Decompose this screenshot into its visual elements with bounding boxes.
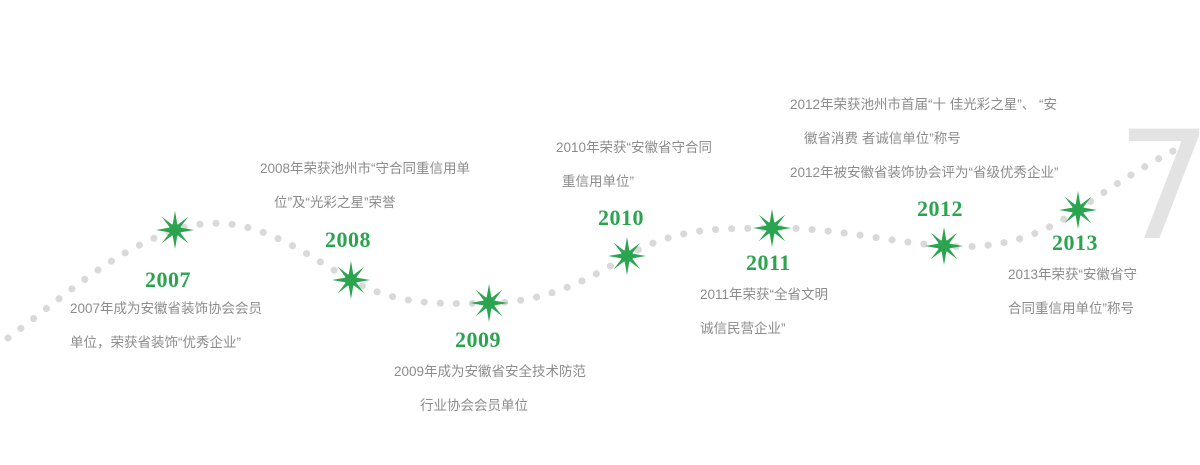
- milestone-text-2013: 2013年荣获“安徽省守 合同重信用单位”称号: [1008, 258, 1137, 326]
- milestone-text-2008: 2008年荣获池州市“守合同重信用单 位”及“光彩之星”荣誉: [260, 152, 470, 220]
- milestone-text-line: 2012年被安徽省装饰协会评为“省级优秀企业”: [790, 156, 1059, 190]
- milestone-text-line: 徽省消费 者诚信单位”称号: [790, 122, 1059, 156]
- milestone-text-line: 诚信民营企业”: [700, 312, 828, 346]
- year-label-2013: 2013: [1052, 230, 1098, 256]
- timeline-infographic: 7: [0, 0, 1200, 465]
- milestone-text-line: 2010年荣获“安徽省守合同: [556, 131, 712, 165]
- milestone-star-2013: [1059, 191, 1097, 229]
- year-label-2007: 2007: [145, 267, 191, 293]
- year-label-2011: 2011: [746, 250, 791, 276]
- milestone-text-line: 2013年荣获“安徽省守: [1008, 258, 1137, 292]
- milestone-text-2010: 2010年荣获“安徽省守合同 重信用单位”: [556, 131, 712, 199]
- milestone-text-2009: 2009年成为安徽省安全技术防范 行业协会会员单位: [394, 355, 586, 423]
- milestone-text-line: 2007年成为安徽省装饰协会会员: [70, 292, 262, 326]
- milestone-text-line: 行业协会会员单位: [394, 389, 586, 423]
- milestone-star-2011: [753, 209, 791, 247]
- year-label-2012: 2012: [917, 196, 963, 222]
- milestone-text-line: 2008年荣获池州市“守合同重信用单: [260, 152, 470, 186]
- milestone-text-2011: 2011年荣获“全省文明 诚信民营企业”: [700, 278, 828, 346]
- year-label-2009: 2009: [455, 327, 501, 353]
- year-label-2010: 2010: [598, 205, 644, 231]
- milestone-text-line: 合同重信用单位”称号: [1008, 292, 1137, 326]
- milestone-star-2008: [332, 261, 370, 299]
- timeline-path: [0, 0, 1200, 465]
- year-label-2008: 2008: [325, 227, 371, 253]
- milestone-text-2012: 2012年荣获池州市首届“十 佳光彩之星”、 “安 徽省消费 者诚信单位”称号 …: [790, 88, 1059, 190]
- milestone-text-line: 单位，荣获省装饰“优秀企业”: [70, 326, 262, 360]
- milestone-text-line: 2011年荣获“全省文明: [700, 278, 828, 312]
- milestone-text-line: 2012年荣获池州市首届“十 佳光彩之星”、 “安: [790, 88, 1059, 122]
- milestone-text-line: 2009年成为安徽省安全技术防范: [394, 355, 586, 389]
- milestone-star-2009: [470, 284, 508, 322]
- milestone-text-line: 重信用单位”: [556, 165, 712, 199]
- milestone-star-2007: [156, 211, 194, 249]
- milestone-text-line: 位”及“光彩之星”荣誉: [260, 186, 470, 220]
- milestone-star-2012: [925, 227, 963, 265]
- milestone-text-2007: 2007年成为安徽省装饰协会会员 单位，荣获省装饰“优秀企业”: [70, 292, 262, 360]
- milestone-star-2010: [608, 237, 646, 275]
